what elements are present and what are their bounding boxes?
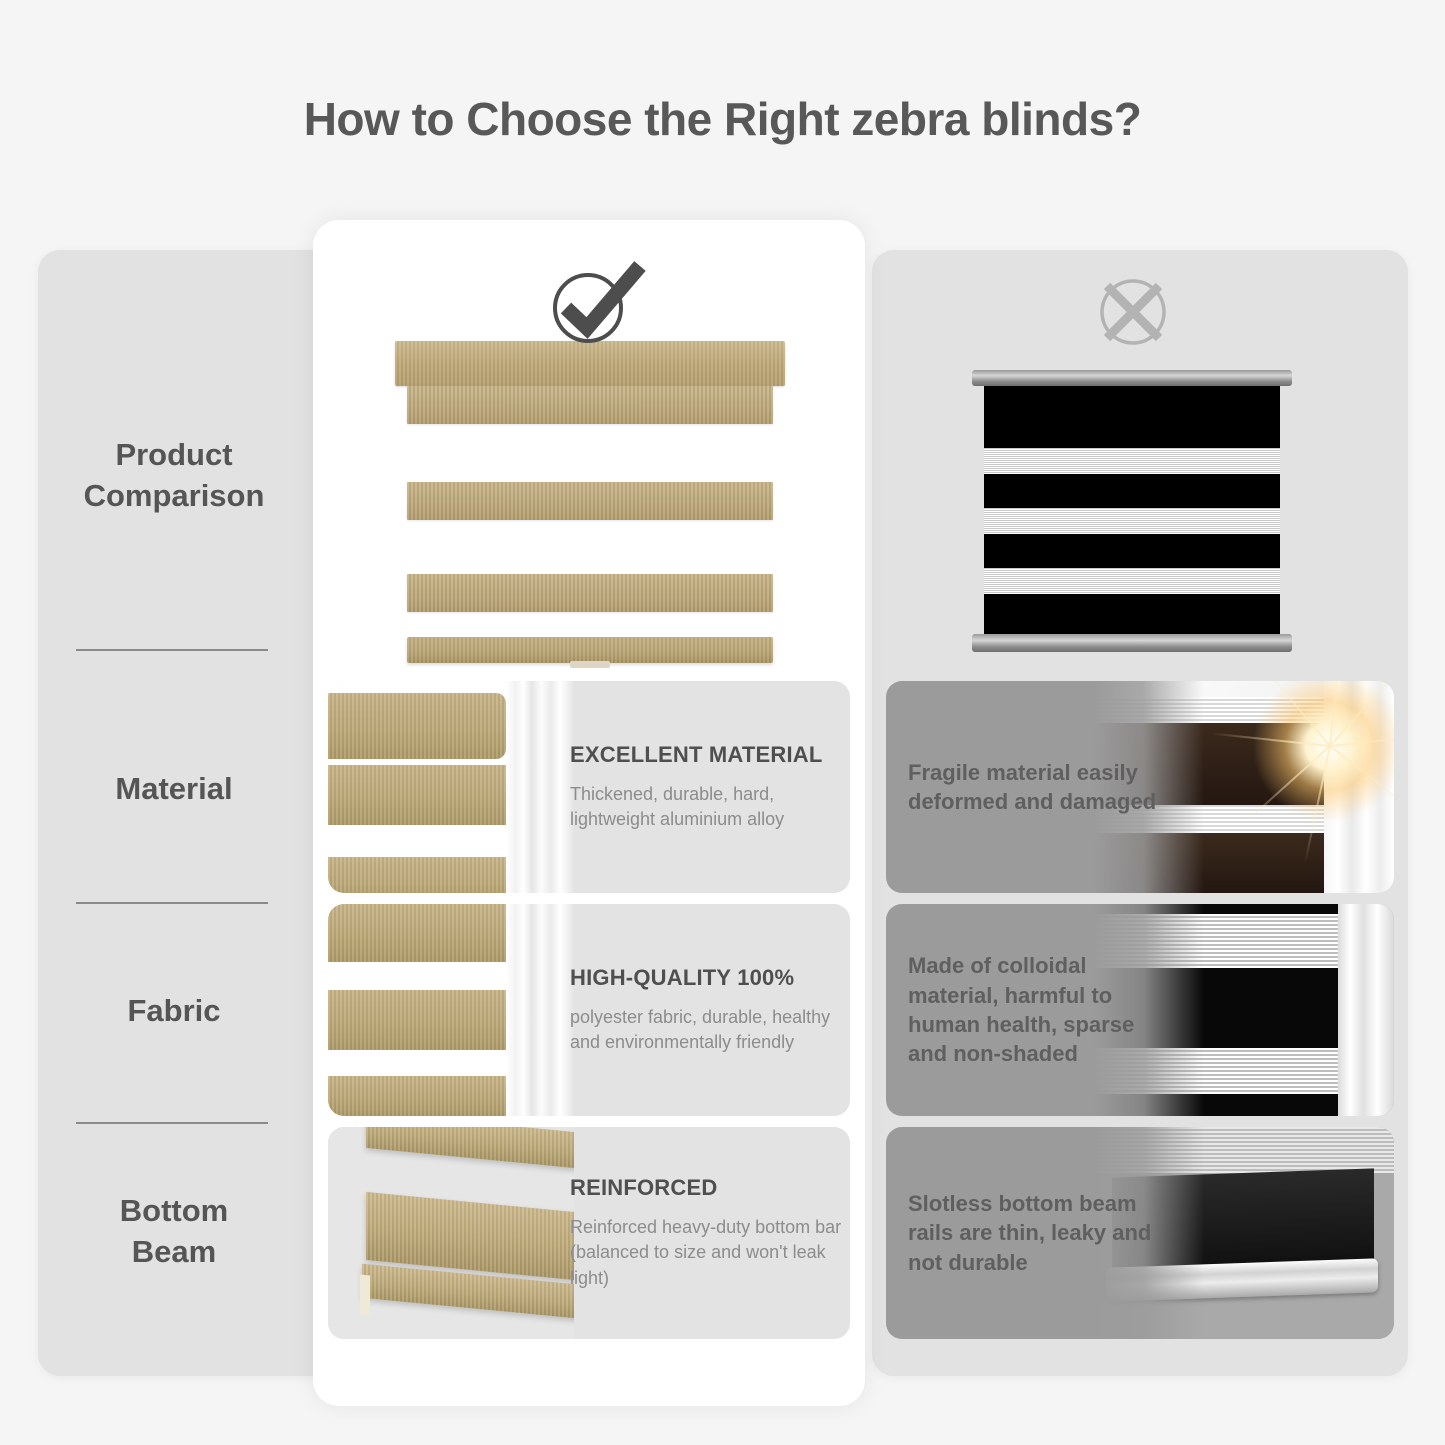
bottom-beam-render: [328, 1127, 574, 1339]
feature-description: Reinforced heavy-duty bottom bar (balanc…: [570, 1215, 842, 1291]
window-frame: [506, 904, 574, 1116]
beige-blind-stripes: [328, 681, 514, 893]
blind-headrail: [972, 370, 1292, 386]
blind-sheer-stripe: [984, 448, 1280, 474]
blind-bottom-bar: [407, 637, 773, 663]
row-label-fabric: Fabric: [62, 990, 286, 1031]
good-fabric-text: HIGH-QUALITY 100% polyester fabric, dura…: [570, 904, 842, 1116]
good-bottom-beam-image: [328, 1127, 574, 1339]
good-feature-card-fabric: HIGH-QUALITY 100% polyester fabric, dura…: [328, 904, 850, 1116]
blind-fabric: [984, 386, 1280, 634]
good-fabric-image: [328, 904, 574, 1116]
window-frame: [506, 681, 574, 893]
window-frame: [1338, 904, 1394, 1116]
blind-bottom-rail: [972, 634, 1292, 652]
hero-beige-zebra-blind: [395, 341, 785, 663]
good-feature-card-bottom-beam: REINFORCED Reinforced heavy-duty bottom …: [328, 1127, 850, 1339]
feature-description: polyester fabric, durable, healthy and e…: [570, 1005, 842, 1055]
beige-blind-stripes: [328, 904, 514, 1116]
blind-slat: [407, 386, 773, 424]
row-divider: [76, 902, 268, 904]
blind-slat: [407, 574, 773, 612]
row-label-product-comparison: ProductComparison: [62, 434, 286, 516]
comparison-infographic: How to Choose the Right zebra blinds? Pr…: [0, 0, 1445, 1445]
feature-title: EXCELLENT MATERIAL: [570, 742, 842, 768]
row-label-bottom-beam: BottomBeam: [62, 1190, 286, 1272]
page-title: How to Choose the Right zebra blinds?: [0, 92, 1445, 146]
bad-fabric-text: Made of colloidal material, harmful to h…: [908, 904, 1158, 1116]
good-bottom-beam-text: REINFORCED Reinforced heavy-duty bottom …: [570, 1127, 842, 1339]
good-material-image: [328, 681, 574, 893]
feature-title: HIGH-QUALITY 100%: [570, 965, 842, 991]
row-label-material: Material: [62, 768, 286, 809]
cross-circle-icon: [1085, 272, 1181, 352]
check-circle-icon: [542, 258, 650, 348]
bad-feature-card-bottom-beam: Slotless bottom beam rails are thin, lea…: [886, 1127, 1394, 1339]
bad-bottom-beam-text: Slotless bottom beam rails are thin, lea…: [908, 1127, 1158, 1339]
bad-feature-card-fabric: Made of colloidal material, harmful to h…: [886, 904, 1394, 1116]
bad-feature-card-material: Fragile material easily deformed and dam…: [886, 681, 1394, 893]
row-divider: [76, 649, 268, 651]
feature-description: Thickened, durable, hard, lightweight al…: [570, 782, 842, 832]
good-feature-card-material: EXCELLENT MATERIAL Thickened, durable, h…: [328, 681, 850, 893]
feature-title: REINFORCED: [570, 1175, 842, 1201]
good-material-text: EXCELLENT MATERIAL Thickened, durable, h…: [570, 681, 842, 893]
blind-slat: [407, 482, 773, 520]
hero-black-zebra-blind: [972, 370, 1292, 650]
bad-material-text: Fragile material easily deformed and dam…: [908, 681, 1158, 893]
blind-sheer-stripe: [984, 508, 1280, 534]
row-divider: [76, 1122, 268, 1124]
blind-sheer-stripe: [984, 568, 1280, 594]
